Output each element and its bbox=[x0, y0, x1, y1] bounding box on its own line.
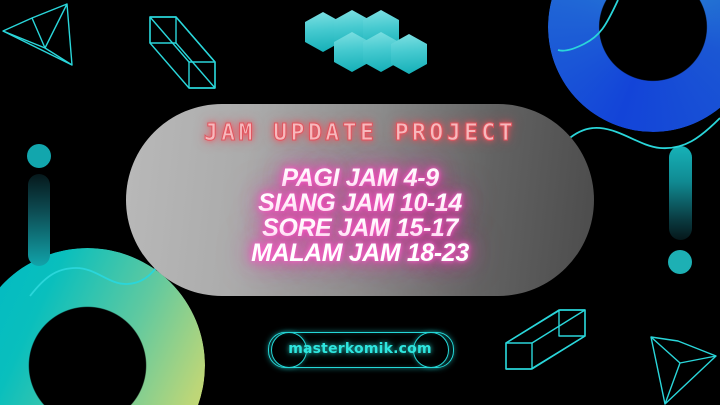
letter-i-dot-shape bbox=[27, 144, 51, 168]
website-badge[interactable]: masterkomik.com bbox=[268, 332, 452, 366]
hexagon-icon bbox=[334, 32, 370, 72]
letter-i-bar-shape bbox=[28, 174, 50, 266]
hexagon-icon bbox=[363, 32, 399, 72]
page-title: JAM UPDATE PROJECT bbox=[126, 120, 594, 146]
gem-wireframe-bottom-right bbox=[651, 337, 716, 404]
blue-donut-shape bbox=[548, 0, 720, 132]
hexagon-icon bbox=[363, 10, 399, 50]
website-url: masterkomik.com bbox=[268, 332, 452, 366]
exclamation-bar-shape bbox=[669, 146, 692, 240]
hexagon-icon bbox=[334, 10, 370, 50]
hexagon-icon bbox=[391, 34, 427, 74]
prism-wireframe-top-left bbox=[150, 17, 215, 88]
poster-canvas: JAM UPDATE PROJECT PAGI JAM 4-9 SIANG JA… bbox=[0, 0, 720, 405]
gem-wireframe-top-left bbox=[3, 4, 72, 65]
hexagon-cluster-shape bbox=[305, 2, 430, 72]
list-item: SIANG JAM 10-14 bbox=[126, 191, 594, 216]
list-item: PAGI JAM 4-9 bbox=[126, 166, 594, 191]
prism-wireframe-bottom-right bbox=[506, 310, 585, 369]
list-item: SORE JAM 15-17 bbox=[126, 216, 594, 241]
content-card: JAM UPDATE PROJECT PAGI JAM 4-9 SIANG JA… bbox=[126, 104, 594, 296]
list-item: MALAM JAM 18-23 bbox=[126, 241, 594, 266]
schedule-list: PAGI JAM 4-9 SIANG JAM 10-14 SORE JAM 15… bbox=[126, 166, 594, 266]
exclamation-dot-shape bbox=[668, 250, 692, 274]
hexagon-icon bbox=[305, 12, 341, 52]
